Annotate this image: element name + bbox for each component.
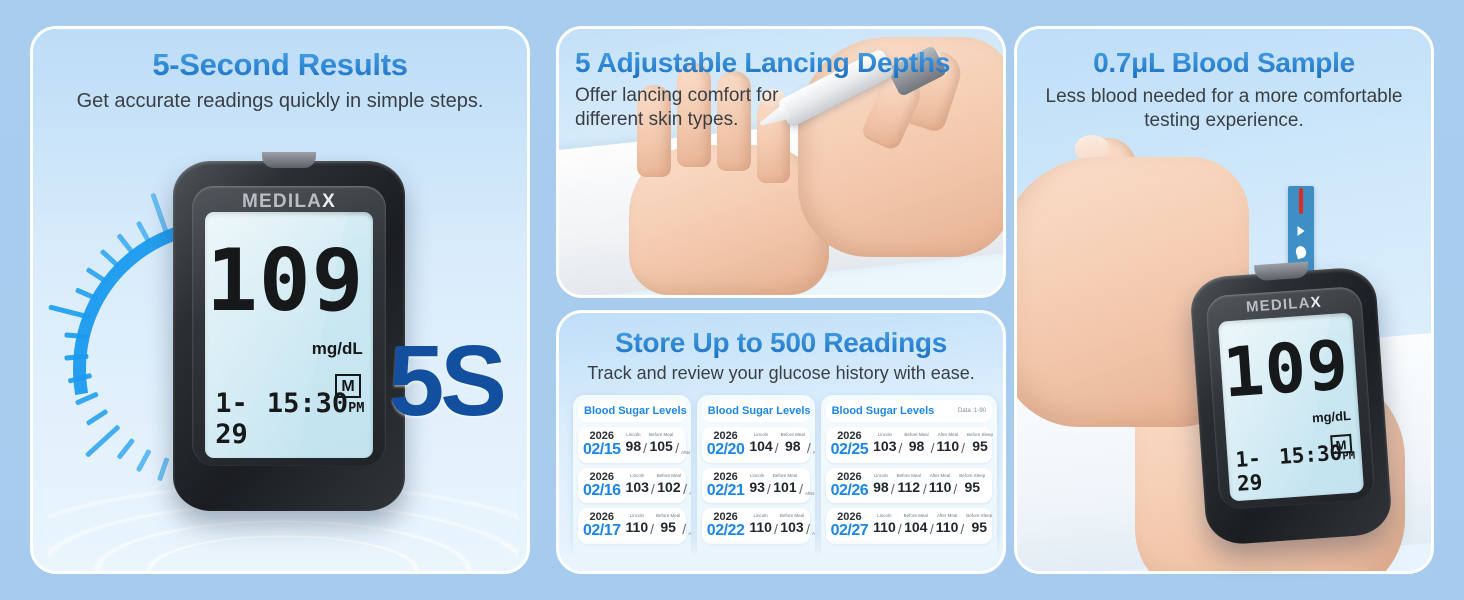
reading-value-number: 110 <box>929 479 952 495</box>
meter-lcd-screen: 109 mg/dL M 1-29 15:30PM <box>1218 312 1365 501</box>
value-separator: / <box>891 481 895 497</box>
value-separator: / <box>650 521 654 537</box>
reading-value-number: 95 <box>660 519 676 535</box>
value-separator: / <box>899 440 903 456</box>
value-separator: / <box>923 481 927 497</box>
reading-value-number: 103 <box>873 438 896 454</box>
reading-value-cell: Before Meal95 <box>656 514 680 537</box>
reading-value-cell: Before Meal104 <box>904 514 928 537</box>
reading-value-cell: Before Meal98 <box>904 433 928 456</box>
panel-header: 5 Adjustable Lancing Depths Offer lancin… <box>559 47 1003 132</box>
reading-row[interactable]: 202602/16Lincoln103/Before Meal102/After… <box>578 468 686 504</box>
reading-value-number: 93 <box>749 479 765 495</box>
reading-value-number: 103 <box>780 519 803 535</box>
panel-subtitle: Track and review your glucose history wi… <box>559 363 1003 384</box>
reading-values: Lincoln98/Before Meal112/After Meal110/B… <box>873 474 985 497</box>
reading-month-day: 02/27 <box>831 523 869 539</box>
glucose-unit-label: mg/dL <box>312 339 363 359</box>
reading-date: 202602/16 <box>583 472 621 500</box>
reading-value-number: 95 <box>964 479 980 495</box>
reading-date: 202602/17 <box>583 512 621 540</box>
panel-title: 0.7μL Blood Sample <box>1017 47 1431 79</box>
reading-value-number: 103 <box>626 479 649 495</box>
reading-value-cell: Lincoln110 <box>873 514 896 537</box>
reading-values: Lincoln103/Before Meal98/After Meal110/B… <box>873 433 993 456</box>
panel-five-second-results: 5-Second Results Get accurate readings q… <box>30 26 530 574</box>
panel-lancing-depths: 5 Adjustable Lancing Depths Offer lancin… <box>556 26 1006 298</box>
reading-value-number: 110 <box>873 519 896 535</box>
infographic-stage: 5-Second Results Get accurate readings q… <box>0 0 1464 600</box>
value-separator: / <box>930 521 934 537</box>
reading-value-number: 110 <box>937 438 960 454</box>
reading-value-number: 102 <box>657 479 680 495</box>
value-separator: / <box>953 481 957 497</box>
panel-subtitle: Offer lancing comfort for different skin… <box>575 84 805 132</box>
brand-logo: MEDILAX <box>192 191 387 213</box>
reading-value-cell: Before Meal98 <box>781 433 805 456</box>
reading-value-cell: Before Sleep95 <box>959 474 985 497</box>
reading-card-header: Blood Sugar LevelsData :1-90 <box>826 400 992 422</box>
reading-value-number: 98 <box>873 479 889 495</box>
strip-arrow-icon <box>1298 226 1305 236</box>
reading-value-cell: After Meal <box>805 492 815 497</box>
reading-month-day: 02/16 <box>583 483 621 499</box>
reading-value-number: 105 <box>649 438 672 454</box>
reading-value-number: 110 <box>626 519 649 535</box>
lcd-date: 1-29 <box>215 388 267 450</box>
reading-value-cell: Lincoln104 <box>749 433 772 456</box>
glucose-reading-value: 109 <box>205 241 364 323</box>
reading-row[interactable]: 202602/22Lincoln110/Before Meal103/After… <box>702 508 810 544</box>
reading-value-label: After Meal <box>688 532 691 537</box>
reading-value-cell: After Meal110 <box>937 433 960 456</box>
reading-date: 202602/25 <box>831 431 869 459</box>
reading-value-number: 104 <box>904 519 927 535</box>
reading-value-label: After Meal <box>689 492 691 497</box>
reading-row[interactable]: 202602/17Lincoln110/Before Meal95/After … <box>578 508 686 544</box>
strip-slot <box>1254 261 1309 281</box>
reading-values: Lincoln110/Before Meal103/After Meal <box>749 514 814 537</box>
reading-values: Lincoln104/Before Meal98/After Meal <box>749 433 814 456</box>
reading-values: Lincoln93/Before Meal101/After Meal <box>749 474 814 497</box>
reading-date: 202602/22 <box>707 512 745 540</box>
panel-title: Store Up to 500 Readings <box>559 327 1003 359</box>
reading-value-cell: After Meal110 <box>929 474 952 497</box>
value-separator: / <box>806 521 810 537</box>
value-separator: / <box>643 440 647 456</box>
reading-value-cell: Before Meal112 <box>897 474 921 497</box>
blood-drop-icon <box>1299 188 1303 214</box>
lcd-time: 15:30PM <box>267 388 365 419</box>
brand-x-icon: X <box>1310 293 1322 311</box>
reading-row[interactable]: 202602/20Lincoln104/Before Meal98/After … <box>702 427 810 463</box>
panel-header: Store Up to 500 Readings Track and revie… <box>559 327 1003 384</box>
reading-card[interactable]: Blood Sugar LevelsData :1-90202602/25Lin… <box>821 395 997 574</box>
lcd-time: 15:30PM <box>1278 439 1355 468</box>
value-separator: / <box>774 521 778 537</box>
meter-bezel: MEDILAX 109 mg/dL M 1-29 15:30PM <box>1205 286 1376 511</box>
panel-header: 5-Second Results Get accurate readings q… <box>33 47 527 113</box>
reading-value-cell: Before Meal102 <box>657 474 681 497</box>
reading-values: Lincoln110/Before Meal95/After Meal <box>626 514 691 537</box>
reading-month-day: 02/15 <box>583 442 621 458</box>
value-separator: / <box>651 481 655 497</box>
reading-value-number: 95 <box>972 438 988 454</box>
reading-month-day: 02/21 <box>707 483 745 499</box>
reading-value-cell: After Meal <box>813 451 815 456</box>
reading-value-label: After Meal <box>805 492 815 497</box>
meter-lcd-screen: 109 mg/dL M 1-29 15:30PM <box>205 212 373 458</box>
reading-values: Lincoln98/Before Meal105/After Meal <box>626 433 691 456</box>
reading-date: 202602/15 <box>583 431 621 459</box>
panel-header: 0.7μL Blood Sample Less blood needed for… <box>1017 47 1431 133</box>
value-separator: / <box>799 481 803 497</box>
reading-value-label: After Meal <box>812 532 815 537</box>
glucose-meter-device-handheld: MEDILAX 109 mg/dL M 1-29 15:30PM <box>1189 266 1393 546</box>
value-separator: / <box>682 521 686 537</box>
reading-row[interactable]: 202602/25Lincoln103/Before Meal98/After … <box>826 427 992 463</box>
reading-value-cell: Before Sleep95 <box>967 433 993 456</box>
reading-month-day: 02/25 <box>831 442 869 458</box>
reading-value-cell: Lincoln93 <box>749 474 765 497</box>
reading-value-number: 110 <box>749 519 772 535</box>
reading-value-cell: Before Meal103 <box>780 514 804 537</box>
reading-value-cell: After Meal <box>681 451 691 456</box>
reading-card-title: Blood Sugar Levels <box>584 405 687 417</box>
reading-card[interactable]: Blood Sugar Levels202602/15Lincoln98/Bef… <box>573 395 691 574</box>
reading-value-number: 95 <box>971 519 987 535</box>
reading-date: 202602/21 <box>707 472 745 500</box>
reading-value-number: 101 <box>773 479 796 495</box>
reading-row[interactable]: 202602/26Lincoln98/Before Meal112/After … <box>826 468 992 504</box>
value-separator: / <box>807 440 811 456</box>
panel-subtitle: Less blood needed for a more comfortable… <box>1017 85 1431 133</box>
value-separator: / <box>683 481 687 497</box>
strip-droplet-icon <box>1294 245 1307 260</box>
reading-value-cell: Before Sleep95 <box>966 514 992 537</box>
value-separator: / <box>775 440 779 456</box>
value-separator: / <box>767 481 771 497</box>
lcd-date: 1-29 <box>1235 445 1282 496</box>
reading-row[interactable]: 202602/27Lincoln110/Before Meal104/After… <box>826 508 992 544</box>
reading-date: 202602/26 <box>831 472 869 500</box>
lcd-meridiem: PM <box>1342 449 1355 462</box>
reading-value-cell: After Meal110 <box>936 514 959 537</box>
reading-value-cell: Lincoln98 <box>873 474 889 497</box>
reading-date: 202602/20 <box>707 431 745 459</box>
value-separator: / <box>675 440 679 456</box>
reading-value-number: 98 <box>785 438 801 454</box>
reading-card-header: Blood Sugar Levels <box>702 400 810 422</box>
meter-bezel: MEDILAX 109 mg/dL M 1-29 15:30PM <box>192 186 387 466</box>
reading-month-day: 02/22 <box>707 523 745 539</box>
brand-x-icon: X <box>322 191 336 212</box>
reading-row[interactable]: 202602/15Lincoln98/Before Meal105/After … <box>578 427 686 463</box>
reading-value-cell: Lincoln103 <box>873 433 896 456</box>
glucose-meter-device: MEDILAX 109 mg/dL M 1-29 15:30PM <box>173 161 405 511</box>
reading-value-label: After Meal <box>813 451 815 456</box>
reading-value-number: 112 <box>897 479 920 495</box>
reading-card-title: Blood Sugar Levels <box>832 405 935 417</box>
glucose-unit-label: mg/dL <box>1312 408 1352 426</box>
reading-card[interactable]: Blood Sugar Levels202602/20Lincoln104/Be… <box>697 395 815 574</box>
lcd-bottom-row: 1-29 15:30PM <box>1235 439 1358 495</box>
reading-card-title: Blood Sugar Levels <box>708 405 811 417</box>
reading-row[interactable]: 202602/21Lincoln93/Before Meal101/After … <box>702 468 810 504</box>
panel-title: 5-Second Results <box>33 47 527 83</box>
reading-cards-group: Blood Sugar Levels202602/15Lincoln98/Bef… <box>573 395 997 571</box>
reading-value-cell: After Meal <box>812 532 815 537</box>
reading-date: 202602/27 <box>831 512 869 540</box>
reading-value-cell: Before Meal101 <box>773 474 797 497</box>
reading-month-day: 02/20 <box>707 442 745 458</box>
panel-title: 5 Adjustable Lancing Depths <box>575 47 1003 79</box>
five-second-badge: 5S <box>389 331 503 431</box>
glucose-reading-value: 109 <box>1219 334 1351 407</box>
reading-value-number: 104 <box>749 438 772 454</box>
lcd-meridiem: PM <box>348 400 364 416</box>
value-separator: / <box>931 440 935 456</box>
panel-subtitle: Get accurate readings quickly in simple … <box>33 90 527 113</box>
reading-card-header: Blood Sugar Levels <box>578 400 686 422</box>
reading-value-number: 110 <box>936 519 959 535</box>
reading-value-cell: Before Meal105 <box>649 433 673 456</box>
reading-value-cell: Lincoln98 <box>626 433 642 456</box>
reading-value-label: After Meal <box>681 451 691 456</box>
reading-value-cell: After Meal <box>688 532 691 537</box>
reading-value-cell: Lincoln103 <box>626 474 649 497</box>
value-separator: / <box>961 440 965 456</box>
reading-month-day: 02/26 <box>831 483 869 499</box>
reading-value-cell: Lincoln110 <box>749 514 772 537</box>
lcd-bottom-row: 1-29 15:30PM <box>215 388 364 450</box>
reading-value-cell: After Meal <box>689 492 691 497</box>
reading-value-cell: Lincoln110 <box>626 514 649 537</box>
panel-store-readings: Store Up to 500 Readings Track and revie… <box>556 310 1006 574</box>
reading-value-number: 98 <box>626 438 642 454</box>
reading-value-number: 98 <box>909 438 925 454</box>
value-separator: / <box>960 521 964 537</box>
reading-card-meta: Data :1-90 <box>958 408 986 414</box>
reading-month-day: 02/17 <box>583 523 621 539</box>
reading-values: Lincoln110/Before Meal104/After Meal110/… <box>873 514 992 537</box>
value-separator: / <box>898 521 902 537</box>
strip-slot <box>262 152 316 168</box>
reading-values: Lincoln103/Before Meal102/After Meal <box>626 474 691 497</box>
